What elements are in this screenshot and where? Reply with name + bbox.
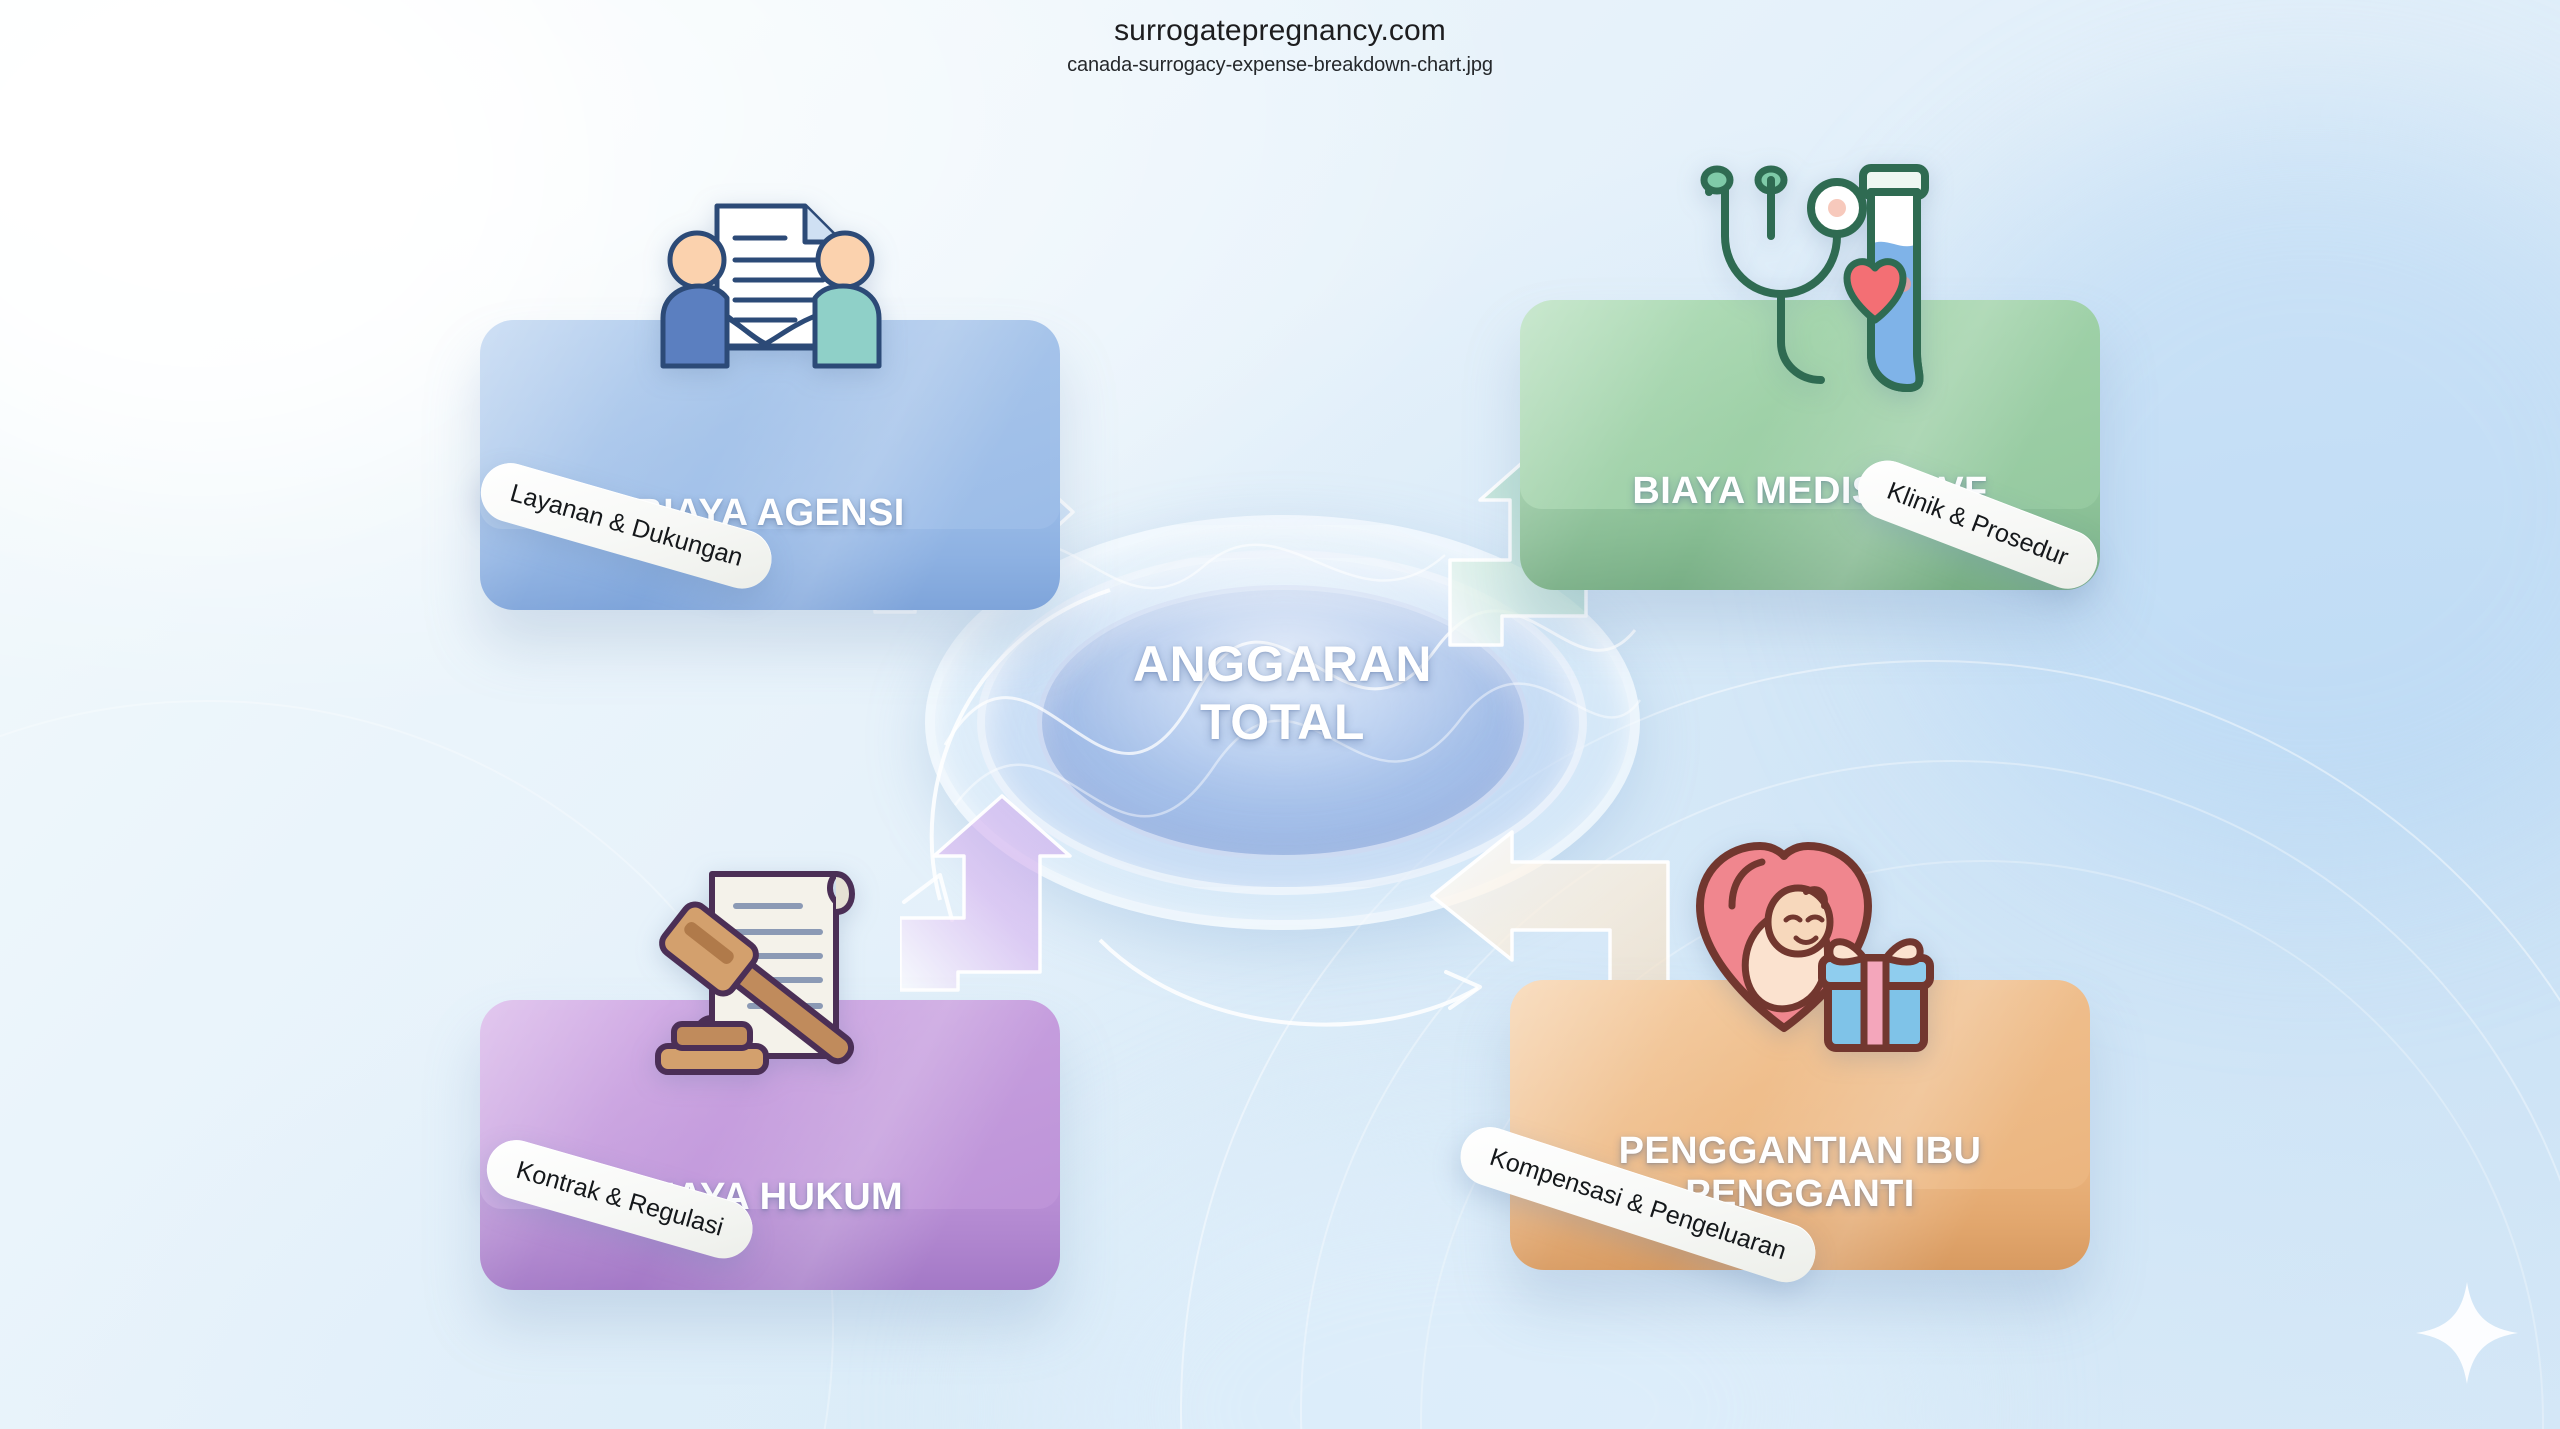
hub-label-line1: ANGGARAN [925,635,1640,693]
site-name: surrogatepregnancy.com [0,12,2560,50]
file-name: canada-surrogacy-expense-breakdown-chart… [0,54,2560,77]
header: surrogatepregnancy.com canada-surrogacy-… [0,0,2560,77]
card-surrogate-title-line1: PENGGANTIAN IBU [1545,1130,2055,1173]
four-point-star-sparkle-icon [2412,1278,2522,1388]
hub-label-line2: TOTAL [925,693,1640,751]
gavel-scroll-icon [640,860,895,1105]
handshake-contract-icon [645,198,895,423]
heart-baby-gift-icon [1688,828,1938,1073]
card-legal[interactable]: BIAYA HUKUM [480,1000,1060,1290]
infographic-canvas: surrogatepregnancy.com canada-surrogacy-… [0,0,2560,1429]
stethoscope-test-tube-icon [1695,158,1945,403]
hub-label: ANGGARAN TOTAL [925,635,1640,751]
